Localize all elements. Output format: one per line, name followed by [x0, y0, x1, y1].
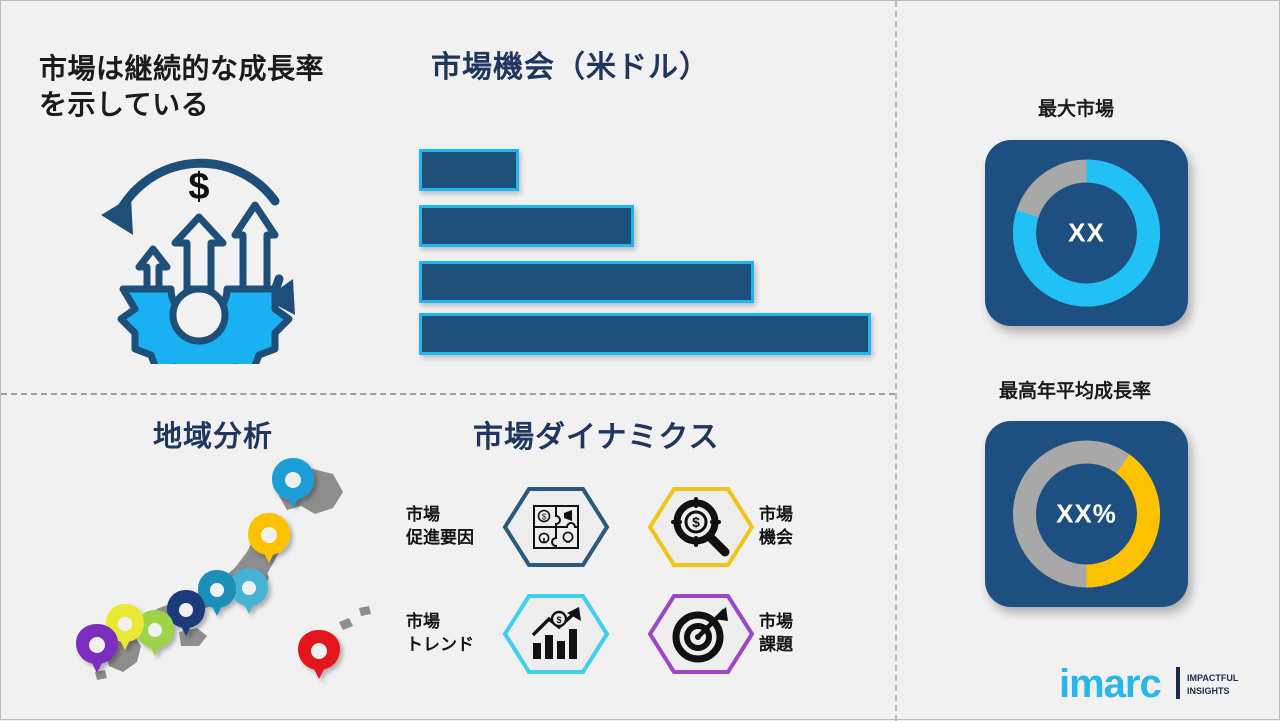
logo-tagline-line2: INSIGHTS — [1187, 686, 1230, 696]
highest-cagr-value: XX% — [985, 499, 1188, 530]
dynamics-panel-title: 市場ダイナミクス — [473, 419, 720, 457]
dynamics-item-opportunity[interactable]: $ 市場 機会 — [646, 486, 851, 568]
slide-canvas: 市場は継続的な成長率 を示している $ 市場機会（米ドル） — [0, 0, 1280, 720]
vertical-divider — [895, 1, 897, 721]
svg-text:$: $ — [188, 166, 209, 208]
dynamics-item-challenges[interactable]: 市場 課題 — [646, 593, 851, 675]
svg-text:$: $ — [556, 615, 561, 625]
svg-text:$: $ — [542, 513, 547, 522]
growth-panel-title: 市場は継続的な成長率 を示している — [39, 51, 389, 123]
target-arrow-icon — [646, 593, 756, 675]
opportunity-panel-title: 市場機会（米ドル） — [431, 49, 710, 87]
horizontal-divider — [1, 393, 895, 395]
dynamics-item-trends[interactable]: 市場 トレンド $ — [406, 593, 611, 675]
largest-market-title: 最大市場 — [1038, 94, 1114, 121]
largest-market-value: XX — [985, 218, 1188, 249]
logo-wordmark: imarc — [1059, 662, 1161, 705]
highest-cagr-card: XX% — [985, 421, 1188, 607]
japan-map — [71, 456, 391, 706]
bar-2 — [419, 205, 634, 247]
bar-3 — [419, 261, 754, 303]
dynamics-item-drivers[interactable]: 市場 促進要因 $ — [406, 486, 611, 568]
highest-cagr-title: 最高年平均成長率 — [999, 376, 1151, 403]
logo-tagline-line1: IMPACTFUL — [1187, 673, 1239, 683]
puzzle-pieces-icon: $ — [501, 486, 611, 568]
dynamics-label-opportunity: 市場 機会 — [759, 504, 851, 550]
imarc-logo: imarc IMPACTFUL INSIGHTS — [1059, 661, 1249, 705]
region-panel-title: 地域分析 — [153, 419, 273, 455]
dynamics-label-drivers: 市場 促進要因 — [406, 504, 498, 550]
dynamics-label-trends: 市場 トレンド — [406, 611, 498, 657]
bar-1 — [419, 149, 519, 191]
magnifier-dollar-icon: $ — [646, 486, 756, 568]
largest-market-card: XX — [985, 140, 1188, 326]
dynamics-label-challenges: 市場 課題 — [759, 611, 851, 657]
opportunity-bar-chart — [419, 147, 889, 357]
svg-text:$: $ — [692, 514, 700, 530]
bar-4 — [419, 313, 871, 355]
bar-chart-arrow-icon: $ — [501, 593, 611, 675]
growth-gear-arrows-icon: $ — [79, 139, 319, 364]
